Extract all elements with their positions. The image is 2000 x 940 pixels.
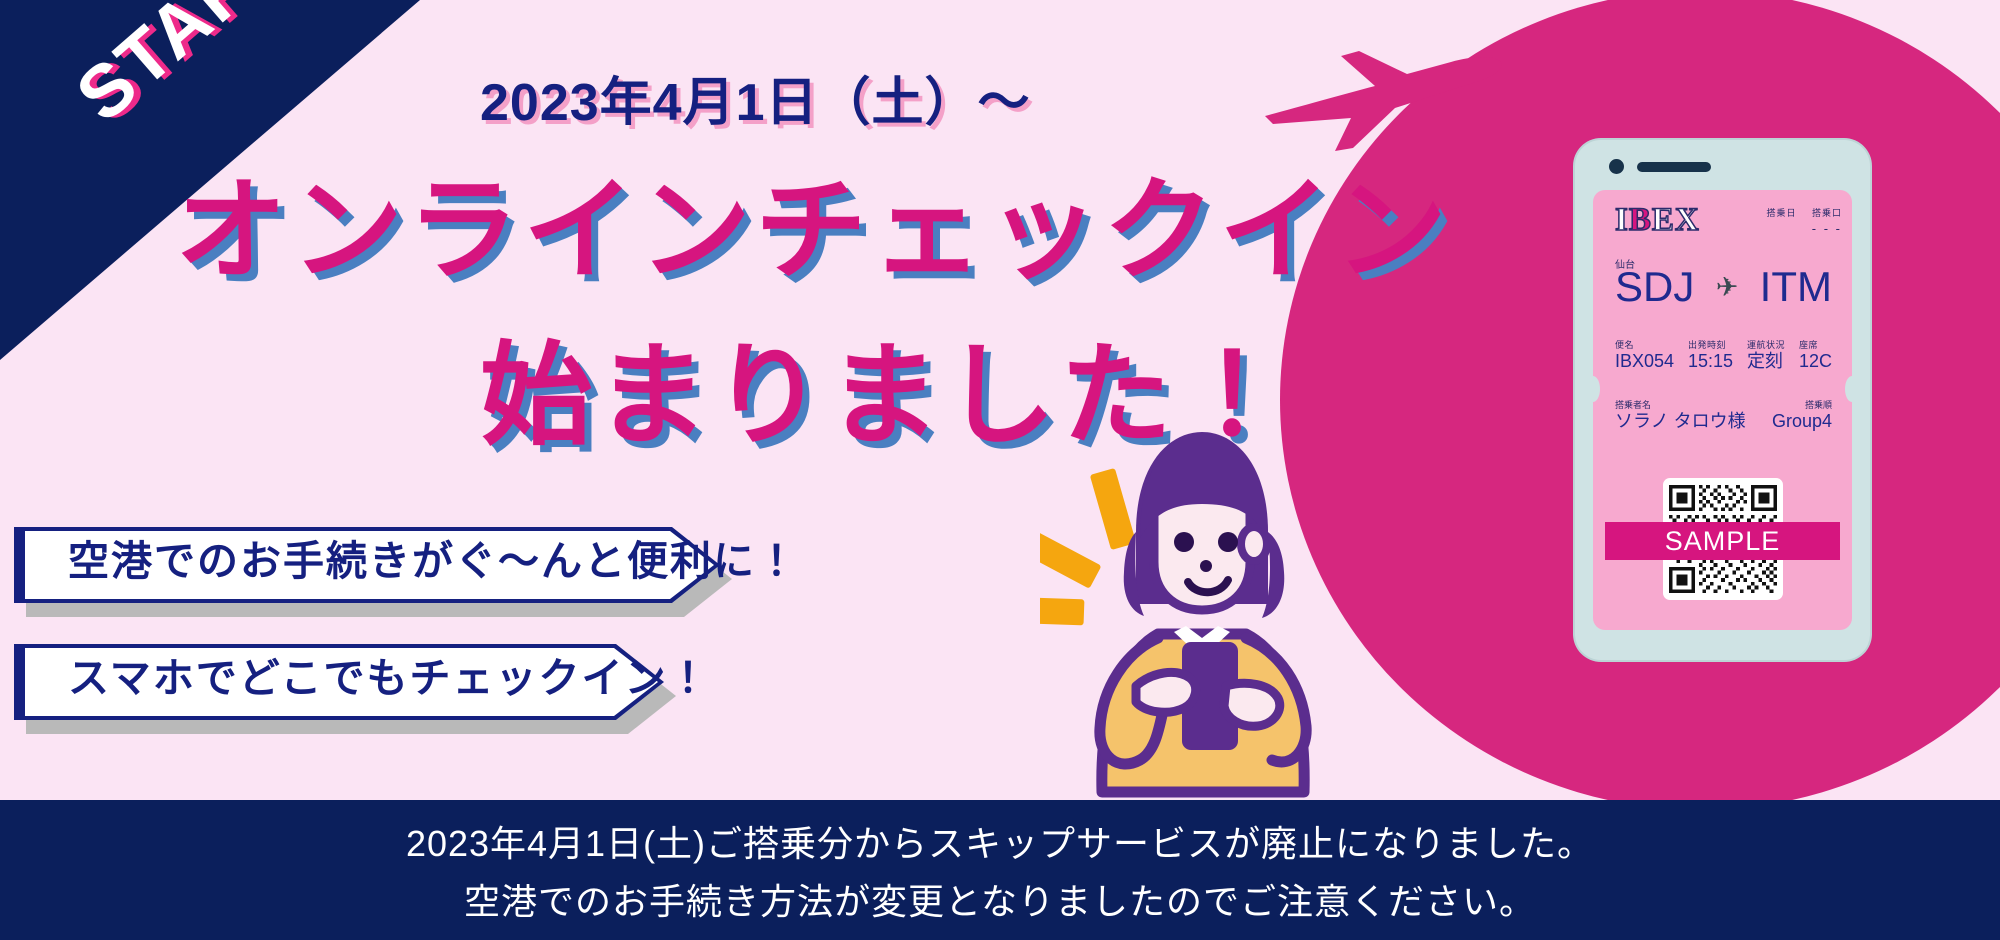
flight-number-cell: 便名 IBX054 bbox=[1615, 338, 1674, 372]
sample-watermark: SAMPLE bbox=[1605, 522, 1840, 560]
passenger-name-cell: 搭乗者名 ソラノ タロウ様 bbox=[1615, 398, 1746, 432]
feature-banner-2-label: スマホでどこでもチェックイン！ bbox=[14, 644, 664, 704]
ibex-logo: IBEX bbox=[1615, 204, 1700, 237]
pass-notch-left bbox=[1593, 376, 1600, 402]
seat-value: 12C bbox=[1799, 351, 1832, 372]
boarding-gate-label: 搭乗口 bbox=[1812, 208, 1842, 218]
origin-airport-code: SDJ bbox=[1615, 266, 1694, 308]
passenger-name-label: 搭乗者名 bbox=[1615, 398, 1746, 411]
boarding-date-label: 搭乗日 bbox=[1766, 208, 1796, 218]
ibex-logo-x: X bbox=[1675, 202, 1700, 238]
departure-time-cell: 出発時刻 15:15 bbox=[1688, 338, 1733, 372]
sparkle-rays bbox=[1040, 468, 1136, 625]
destination-airport-code: ITM bbox=[1760, 266, 1832, 308]
boarding-pass: IBEX 搭乗日 搭乗口 - - - 仙台 SDJ ✈ ITM 便名 bbox=[1593, 190, 1852, 630]
route-row: SDJ ✈ ITM bbox=[1615, 266, 1832, 308]
plane-glyph-icon: ✈ bbox=[1716, 272, 1739, 303]
seat-cell: 座席 12C bbox=[1799, 338, 1832, 372]
flight-number-label: 便名 bbox=[1615, 338, 1674, 351]
footer-line-1: 2023年4月1日(土)ご搭乗分からスキップサービスが廃止になりました。 bbox=[406, 815, 1594, 867]
boarding-group-label: 搭乗順 bbox=[1772, 398, 1832, 411]
pass-header-labels: 搭乗日 搭乗口 - - - bbox=[1754, 206, 1842, 236]
passenger-name-value: ソラノ タロウ様 bbox=[1615, 411, 1746, 432]
pass-notch-right bbox=[1845, 376, 1852, 402]
flight-detail-row: 便名 IBX054 出発時刻 15:15 運航状況 定刻 座席 12C bbox=[1615, 338, 1832, 372]
headline-line-1: オンラインチェックイン bbox=[175, 175, 1451, 287]
departure-time-value: 15:15 bbox=[1688, 351, 1733, 372]
footer-line-2: 空港でのお手続き方法が変更となりましたのでご注意ください。 bbox=[464, 873, 1536, 925]
feature-banner-2[interactable]: スマホでどこでもチェックイン！ bbox=[14, 644, 664, 720]
smartphone-mockup: IBEX 搭乗日 搭乗口 - - - 仙台 SDJ ✈ ITM 便名 bbox=[1575, 140, 1870, 660]
ibex-logo-e: E bbox=[1652, 202, 1675, 238]
passenger-row: 搭乗者名 ソラノ タロウ様 搭乗順 Group4 bbox=[1615, 398, 1832, 432]
flight-status-value: 定刻 bbox=[1747, 351, 1785, 372]
flight-status-cell: 運航状況 定刻 bbox=[1747, 338, 1785, 372]
phone-speaker-bar bbox=[1637, 162, 1711, 172]
phone-camera-dot bbox=[1609, 159, 1624, 174]
boarding-gate-value: - - - bbox=[1754, 221, 1842, 236]
flight-number-value: IBX054 bbox=[1615, 351, 1674, 372]
promo-banner: START 2023年4月1日（土）〜 オンラインチェックイン 始まりました！ … bbox=[0, 0, 2000, 940]
feature-banner-1-label: 空港でのお手続きがぐ〜んと便利に！ bbox=[14, 527, 720, 587]
departure-time-label: 出発時刻 bbox=[1688, 338, 1733, 351]
boarding-group-value: Group4 bbox=[1772, 411, 1832, 432]
ibex-logo-i: I bbox=[1615, 202, 1629, 238]
feature-banner-1[interactable]: 空港でのお手続きがぐ〜んと便利に！ bbox=[14, 527, 720, 603]
sample-label: SAMPLE bbox=[1665, 526, 1781, 557]
flight-status-label: 運航状況 bbox=[1747, 338, 1785, 351]
seat-label: 座席 bbox=[1799, 338, 1832, 351]
ibex-logo-b: B bbox=[1629, 202, 1652, 238]
date-line: 2023年4月1日（土）〜 bbox=[480, 60, 1031, 135]
footer-notice: 2023年4月1日(土)ご搭乗分からスキップサービスが廃止になりました。 空港で… bbox=[0, 800, 2000, 940]
airplane-icon bbox=[1255, 30, 1505, 160]
boarding-group-cell: 搭乗順 Group4 bbox=[1772, 398, 1832, 432]
banner-main-panel: START 2023年4月1日（土）〜 オンラインチェックイン 始まりました！ … bbox=[0, 0, 2000, 800]
woman-with-phone-illustration bbox=[1040, 420, 1360, 800]
